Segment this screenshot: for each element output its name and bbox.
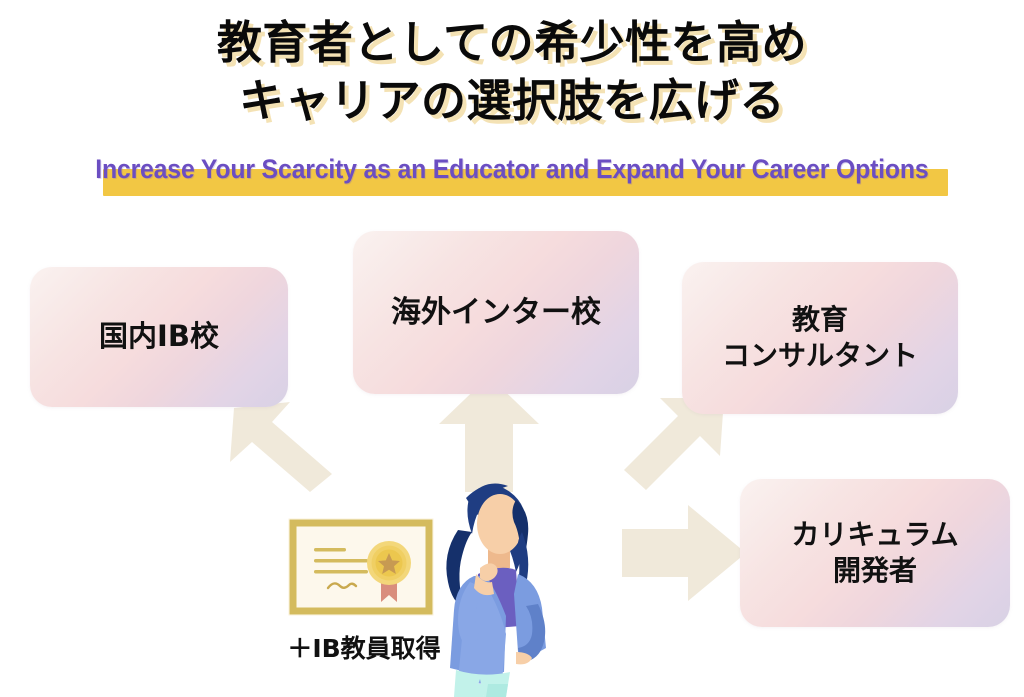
arrow-right-icon xyxy=(620,503,748,603)
slide-canvas: 教育者としての希少性を高め キャリアの選択肢を広げる Increase Your… xyxy=(0,0,1024,697)
title-line-1: 教育者としての希少性を高め xyxy=(0,14,1024,72)
page-title: 教育者としての希少性を高め キャリアの選択肢を広げる xyxy=(0,14,1024,129)
arrow-up-left-icon xyxy=(228,396,338,492)
career-card-domestic-ib-school[interactable]: 国内IB校 xyxy=(30,267,288,407)
subtitle-banner: Increase Your Scarcity as an Educator an… xyxy=(0,152,1024,200)
career-card-label: 海外インター校 xyxy=(391,293,601,332)
career-card-label: カリキュラム 開発者 xyxy=(791,517,958,590)
subtitle-text: Increase Your Scarcity as an Educator an… xyxy=(95,152,928,186)
title-line-2: キャリアの選択肢を広げる xyxy=(0,72,1024,130)
career-card-label: 国内IB校 xyxy=(99,318,219,356)
thinking-woman-illustration xyxy=(426,470,558,697)
certificate-icon xyxy=(288,518,434,616)
career-card-curriculum-developer[interactable]: カリキュラム 開発者 xyxy=(740,479,1010,627)
career-card-overseas-international-school[interactable]: 海外インター校 xyxy=(353,231,639,394)
career-card-education-consultant[interactable]: 教育 コンサルタント xyxy=(682,262,958,414)
career-card-label: 教育 コンサルタント xyxy=(722,302,918,375)
